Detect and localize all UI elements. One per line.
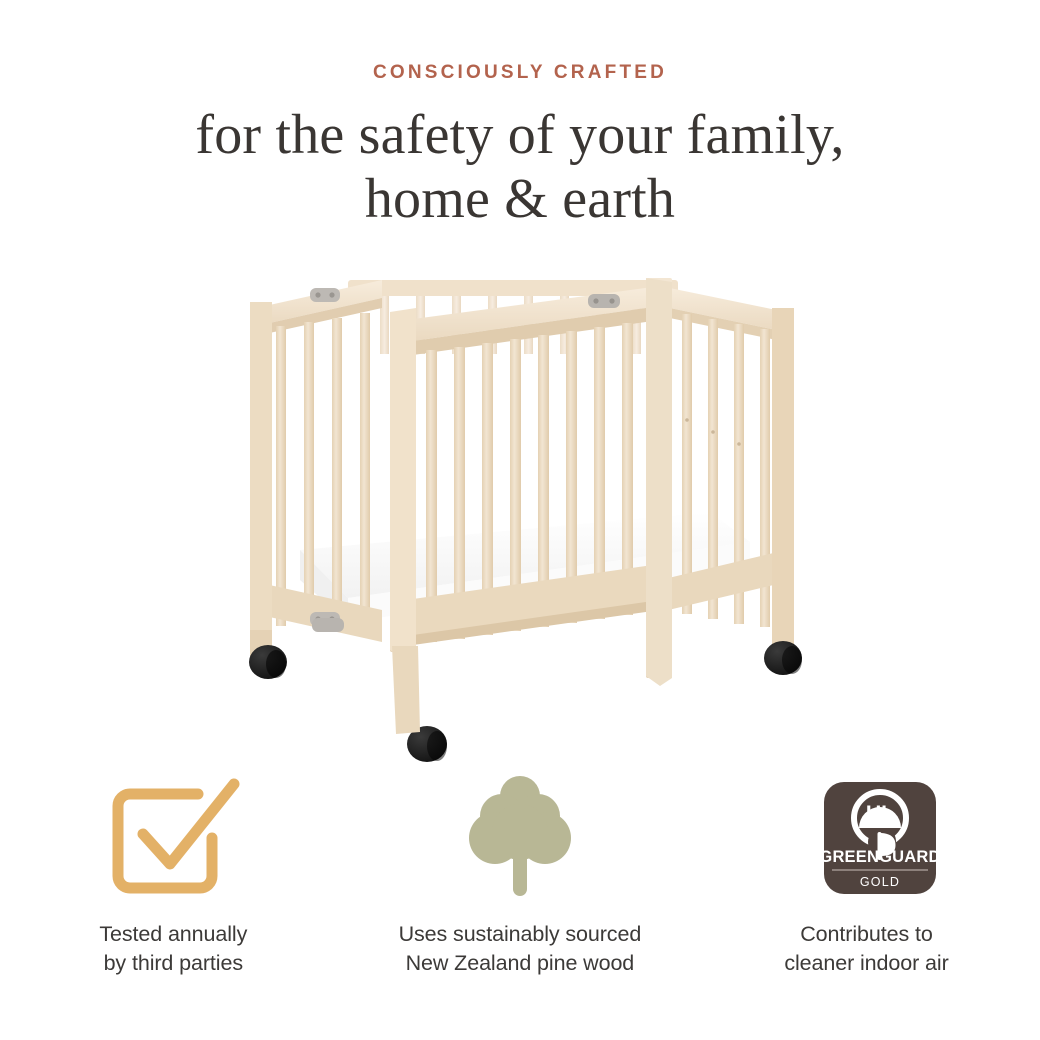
badge-name-text: GREENGUARD (820, 848, 941, 866)
feature-caption-line-2: by third parties (99, 949, 247, 978)
checkbox-check-icon (98, 762, 248, 912)
crib-right-end-panel (660, 286, 794, 662)
page-title: for the safety of your family, home & ea… (0, 104, 1040, 232)
crib-hinge-bracket-front-top (588, 294, 620, 308)
feature-list: Tested annually by third parties (0, 762, 1040, 977)
feature-item-tested-annually: Tested annually by third parties (0, 762, 347, 977)
svg-text:UL: UL (866, 802, 894, 825)
feature-item-sustainable-wood: Uses sustainably sourced New Zealand pin… (347, 762, 694, 977)
crib-casters (249, 641, 802, 762)
crib-hinge-bracket-left-top (310, 288, 340, 302)
crib-front-center-leg (392, 646, 420, 734)
page-title-line-1: for the safety of your family, (195, 104, 844, 166)
feature-caption-line-1: Tested annually (99, 922, 247, 946)
product-image-mini-crib (230, 250, 830, 770)
product-feature-panel: CONSCIOUSLY CRAFTED for the safety of yo… (0, 0, 1040, 1040)
feature-caption-line-1: Contributes to (800, 922, 932, 946)
badge-tier-text: GOLD (860, 875, 900, 889)
caster-rear-right (764, 641, 802, 675)
feature-caption: Uses sustainably sourced New Zealand pin… (399, 920, 642, 977)
feature-item-clean-air: UL GREENGUARD GOLD (693, 762, 1040, 977)
tree-icon (445, 762, 595, 912)
crib-hinge-bracket-front-bottom (312, 618, 344, 632)
feature-caption-line-2: cleaner indoor air (784, 949, 948, 978)
feature-caption-line-1: Uses sustainably sourced (399, 922, 642, 946)
page-title-line-2: home & earth (0, 168, 1040, 232)
eyebrow-text: CONSCIOUSLY CRAFTED (0, 62, 1040, 84)
feature-caption-line-2: New Zealand pine wood (399, 949, 642, 978)
feature-caption: Tested annually by third parties (99, 920, 247, 977)
crib-left-end-panel (250, 280, 382, 668)
greenguard-gold-badge-icon: UL GREENGUARD GOLD (791, 762, 941, 912)
feature-caption: Contributes to cleaner indoor air (784, 920, 948, 977)
caster-rear-left (249, 645, 287, 679)
